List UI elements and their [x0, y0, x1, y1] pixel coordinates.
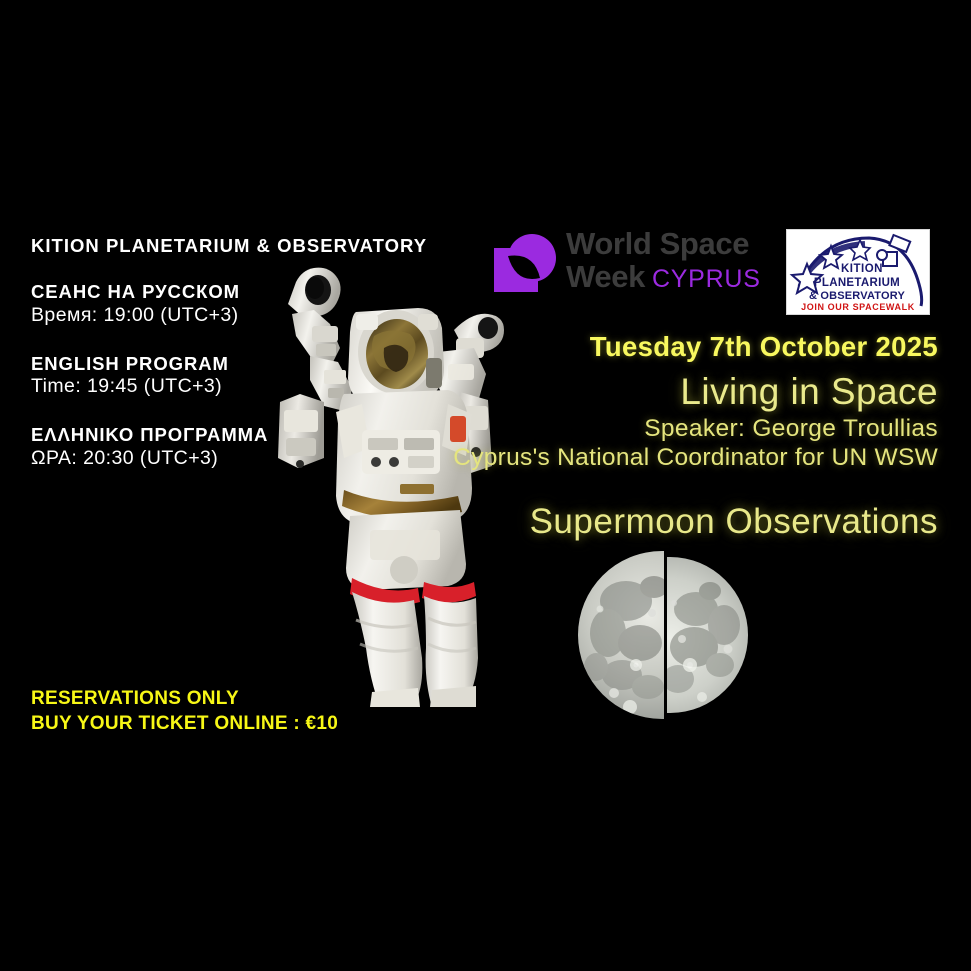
event-poster: KITION PLANETARIUM & OBSERVATORY СЕАНС Н… [0, 0, 971, 971]
ticket-price-notice: BUY YOUR TICKET ONLINE : €10 [31, 711, 338, 736]
reservations-notice: RESERVATIONS ONLY [31, 686, 338, 711]
event-speaker: Speaker: George Troullias [318, 415, 938, 443]
reservations-block: RESERVATIONS ONLY BUY YOUR TICKET ONLINE… [31, 686, 338, 736]
organization-title: KITION PLANETARIUM & OBSERVATORY [31, 236, 431, 256]
event-details-block: Tuesday 7th October 2025 Living in Space… [318, 332, 938, 541]
event-subheading: Supermoon Observations [318, 502, 938, 541]
svg-text:KITION: KITION [841, 263, 883, 275]
event-date: Tuesday 7th October 2025 [318, 332, 938, 362]
schedule-time-russian: Время: 19:00 (UTC+3) [31, 304, 431, 327]
supermoon-comparison-image [578, 547, 754, 723]
world-space-week-wordmark: World Space WeekCYPRUS [566, 228, 761, 293]
svg-text:JOIN OUR SPACEWALK: JOIN OUR SPACEWALK [801, 302, 915, 312]
event-title: Living in Space [318, 371, 938, 412]
event-speaker-role: Cyprus's National Coordinator for UN WSW [318, 444, 938, 472]
wsw-line-two: WeekCYPRUS [566, 261, 761, 293]
schedule-item-russian: СЕАНС НА РУССКОМ Время: 19:00 (UTC+3) [31, 281, 431, 327]
world-space-week-logo: World Space WeekCYPRUS [492, 228, 757, 312]
wsw-line-one: World Space [566, 228, 761, 260]
schedule-language-russian: СЕАНС НА РУССКОМ [31, 281, 431, 303]
svg-text:PLANETARIUM: PLANETARIUM [814, 277, 900, 289]
kition-planetarium-badge-logo: KITION PLANETARIUM & OBSERVATORY JOIN OU… [786, 229, 930, 315]
wsw-region-label: CYPRUS [652, 265, 761, 293]
world-space-week-mark-icon [492, 230, 558, 296]
svg-text:& OBSERVATORY: & OBSERVATORY [809, 290, 906, 302]
wsw-week-word: Week [566, 259, 645, 294]
